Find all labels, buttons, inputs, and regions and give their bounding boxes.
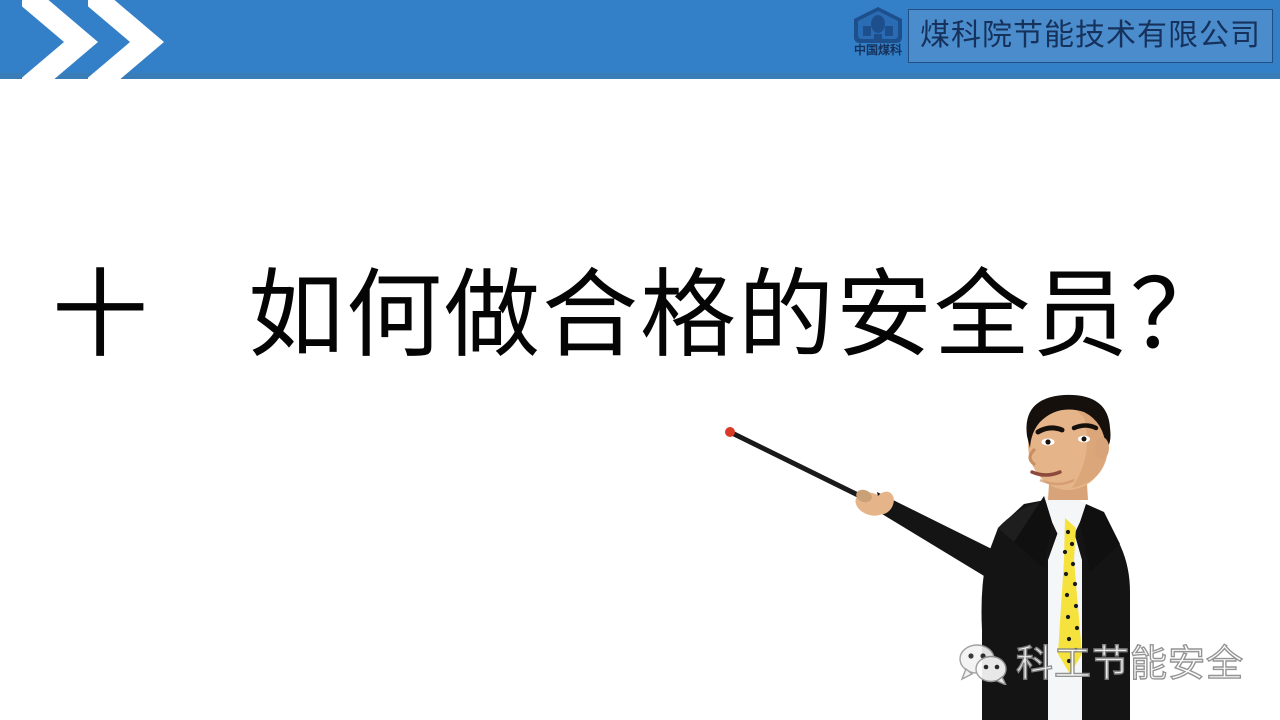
chevron-right-icon (88, 0, 220, 79)
company-logo: 中国煤科 (845, 4, 911, 66)
page-title: 十 如何做合格的安全员？ (52, 259, 1228, 371)
wechat-icon (958, 643, 1008, 685)
slide-header-band: 中国煤科 煤科院节能技术有限公司 (0, 0, 1280, 79)
company-name-box: 煤科院节能技术有限公司 (908, 9, 1273, 63)
logo-caption: 中国煤科 (845, 43, 911, 57)
wechat-watermark: 科工节能安全 (958, 638, 1273, 690)
watermark-text: 科工节能安全 (1016, 643, 1244, 685)
slide-canvas: 中国煤科 煤科院节能技术有限公司 十 如何做合格的安全员？ (0, 0, 1280, 720)
company-name-text: 煤科院节能技术有限公司 (920, 19, 1261, 53)
title-container: 十 如何做合格的安全员？ (0, 255, 1280, 375)
chevron-decoration-group (22, 0, 282, 79)
china-coal-emblem-icon (851, 6, 905, 44)
